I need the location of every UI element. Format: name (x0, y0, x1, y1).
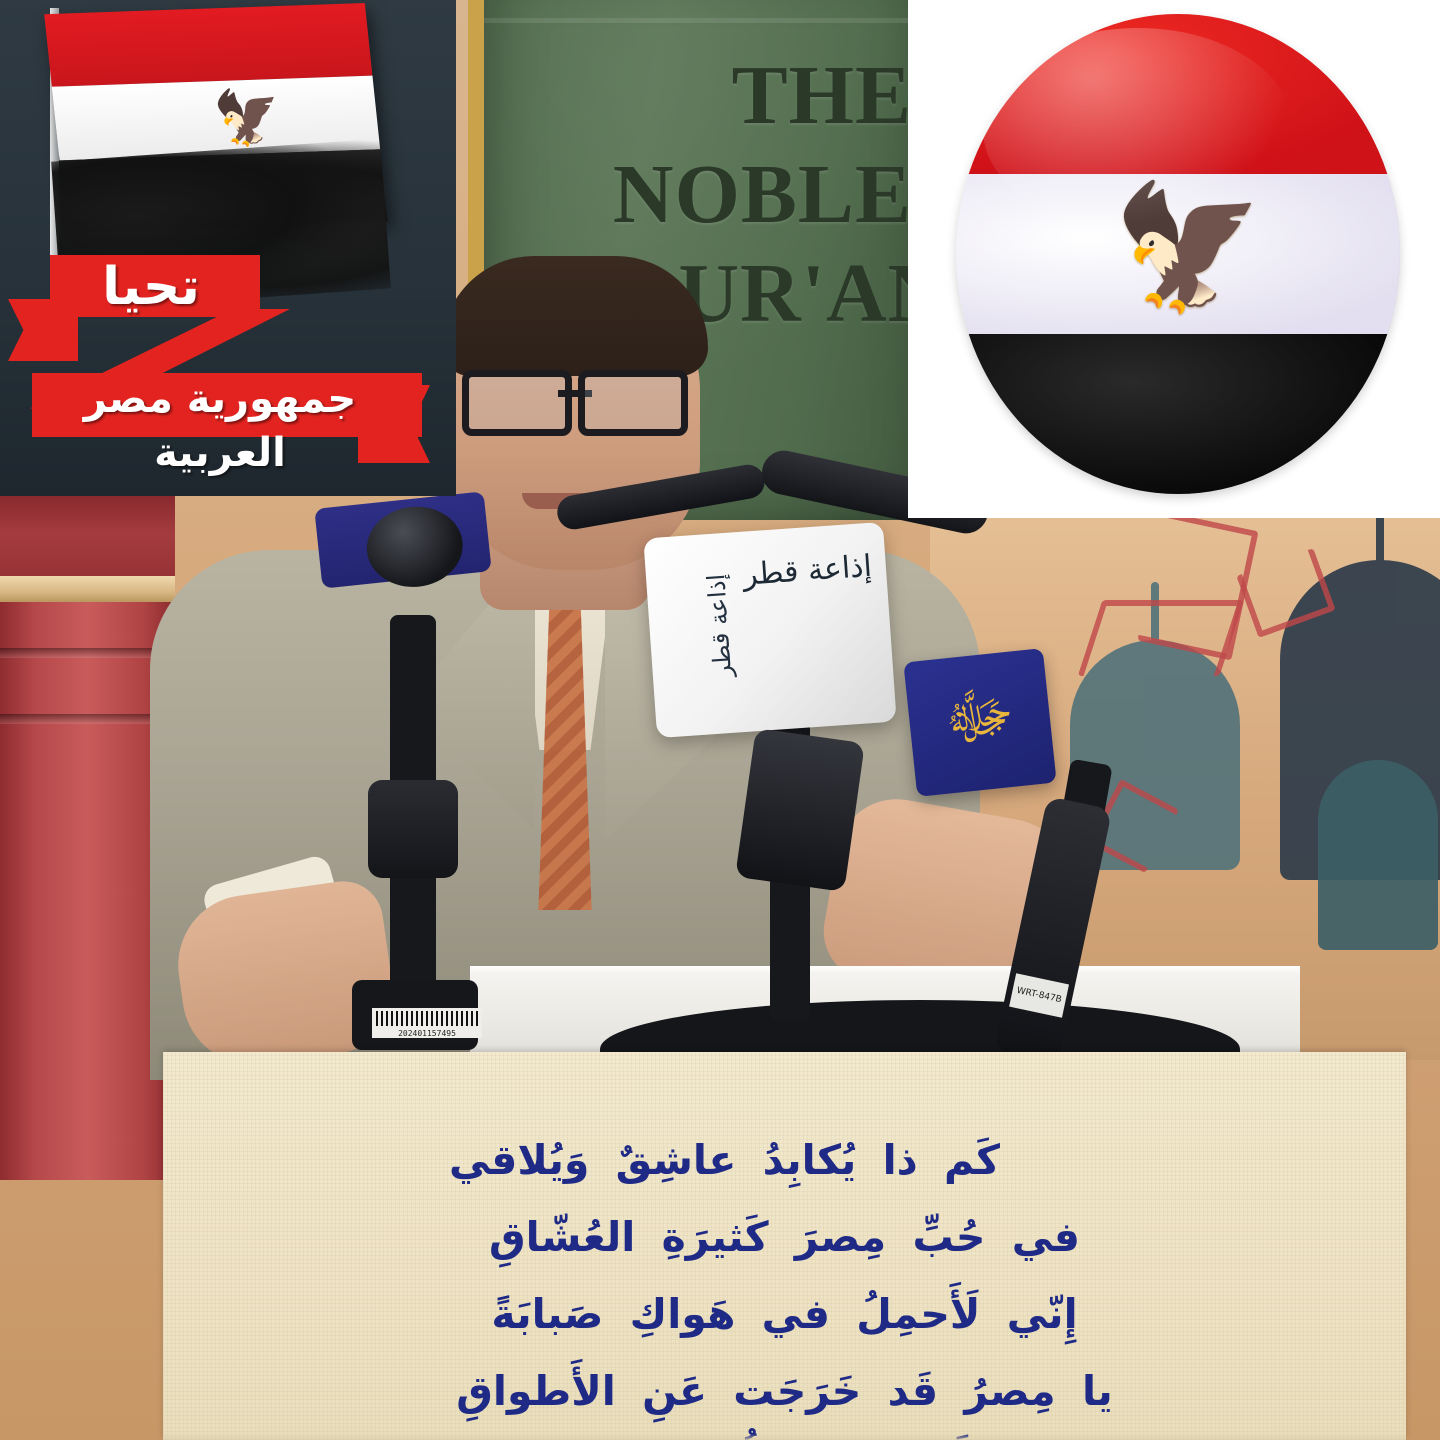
mic-body-center (735, 728, 865, 892)
barcode-bars (376, 1011, 478, 1026)
badge-gloss-highlight (983, 28, 1294, 230)
poem-line-3: إِنّي لَأَحمِلُ في هَواكِ صَبابَةً (181, 1276, 1388, 1353)
equipment-barcode-label: 202401157495 (372, 1008, 482, 1038)
eagle-of-saladin-icon: 🦅 (211, 88, 278, 152)
barcode-number: 202401157495 (372, 1029, 482, 1038)
lens-left (462, 370, 572, 436)
hair (442, 256, 708, 376)
flag-band-red (44, 3, 372, 87)
book-title-line-2: NOBLE (613, 148, 912, 241)
poem-line-2: في حُبِّ مِصرَ كَثيرَةِ العُشّاقِ (181, 1199, 1388, 1276)
poem-panel: كَم ذا يُكابِدُ عاشِقٌ وَيُلاقي في حُبِّ… (163, 1052, 1406, 1440)
screenshot-canvas: THE NOBLE QUR'AN (0, 0, 1440, 1440)
poem-line-4: يا مِصرُ قَد خَرَجَت عَنِ الأَطواقِ (181, 1353, 1388, 1430)
column-groove (0, 648, 175, 658)
badge-band-black (956, 334, 1400, 494)
poem-text: كَم ذا يُكابِدُ عاشِقٌ وَيُلاقي في حُبِّ… (163, 1122, 1406, 1440)
al-jazeera-logo-icon: ﷻ (903, 648, 1056, 797)
poem-bottom-fade (163, 1434, 1406, 1440)
mosque-dome-small (1318, 760, 1438, 950)
column-groove (0, 714, 175, 724)
egypt-circular-flag-badge: 🦅 (956, 14, 1400, 494)
poem-line-1: كَم ذا يُكابِدُ عاشِقٌ وَيُلاقي (181, 1122, 1388, 1199)
mic-flag-radio-qatar: إذاعة قطر إذاعة قطر (643, 522, 896, 738)
book-ridge (484, 18, 936, 23)
mic-flag-al-jazeera: ﷻ (903, 648, 1056, 797)
long-live-egypt-card: 🦅 تحيا جمهورية مصر العربية (0, 0, 456, 496)
ribbon-text-tahya: تحيا (56, 258, 246, 316)
book-title-line-1: THE (732, 49, 912, 142)
egypt-flag-badge-card: 🦅 (908, 0, 1440, 518)
ribbon-text-republic: جمهورية مصر العربية (30, 372, 410, 426)
eyeglasses (462, 370, 688, 422)
lens-right (578, 370, 688, 436)
mic-model-tag: WRT-847B (1009, 973, 1069, 1017)
mic-stand-left-grip (368, 780, 458, 878)
column-gold-trim (0, 576, 175, 602)
